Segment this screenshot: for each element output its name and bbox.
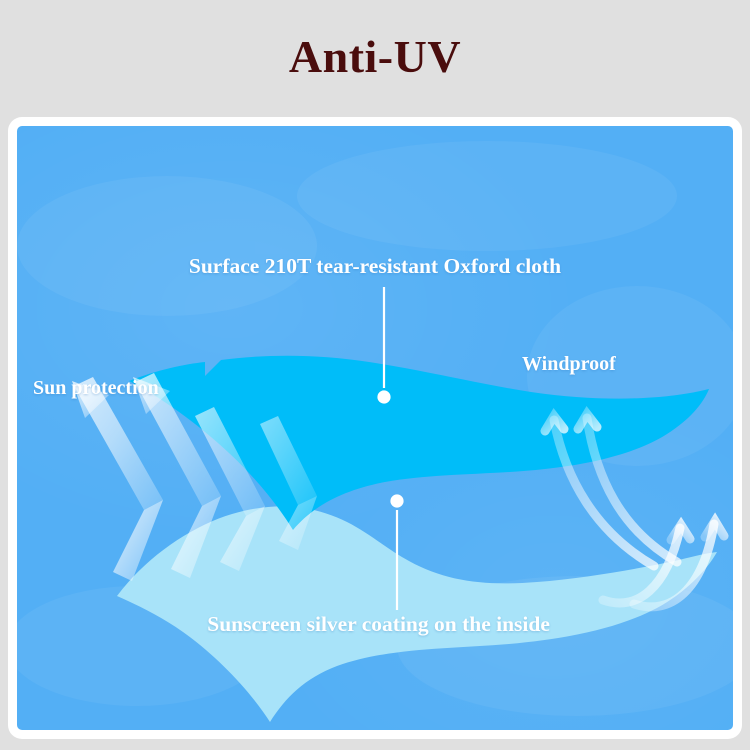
callout-label-sun-protection: Sun protection	[33, 378, 159, 398]
callout-dot-inside	[390, 494, 403, 507]
product-feature-graphic: Anti-UV	[0, 0, 750, 750]
callout-label-surface: Surface 210T tear-resistant Oxford cloth	[189, 256, 561, 278]
callout-label-windproof: Windproof	[522, 354, 616, 374]
callout-label-inside: Sunscreen silver coating on the inside	[207, 614, 550, 636]
fabric-cross-section-illustration	[17, 126, 733, 730]
diagram-frame: Surface 210T tear-resistant Oxford cloth…	[8, 117, 742, 739]
callout-dot-surface	[377, 390, 390, 403]
page-title: Anti-UV	[289, 34, 461, 84]
title-bar: Anti-UV	[0, 0, 750, 118]
diagram-panel: Surface 210T tear-resistant Oxford cloth…	[17, 126, 733, 730]
